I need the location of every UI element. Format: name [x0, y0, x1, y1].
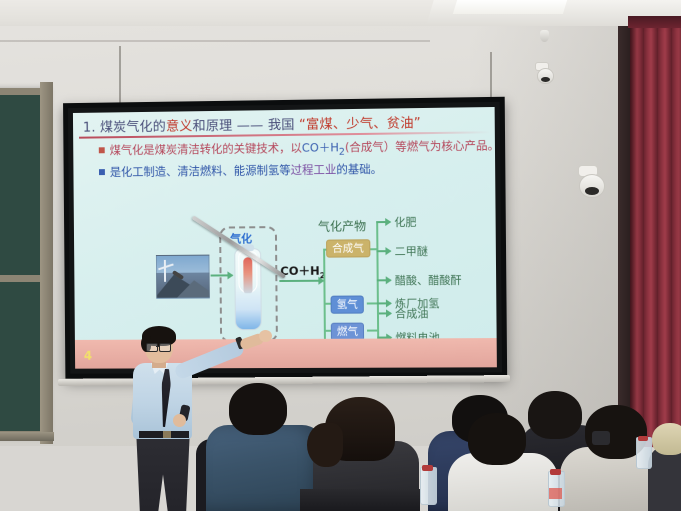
products-heading: 气化产物 — [318, 217, 366, 234]
slide-title-highlight-2: “富煤、少气、贫油” — [299, 116, 421, 133]
student-white-hoodie-head — [468, 413, 526, 465]
camera-lens — [541, 77, 550, 82]
water-bottle-center-cap — [550, 469, 561, 475]
bullet-1-formula: CO＋H — [302, 140, 339, 154]
bullet-2-emphasis: 过程工业 — [291, 162, 337, 177]
student-camo-jacket-head — [229, 383, 287, 435]
syngas-branch-riser — [376, 221, 379, 313]
arrow-to-refinery-hydrogenation — [377, 302, 391, 304]
presentation-slide: 1. 煤炭气化的意义和原理 —— 我国 “富煤、少气、贫油” 煤气化是煤炭清洁转… — [73, 107, 497, 369]
water-bottle-right — [636, 437, 652, 469]
bullet-1-part-1: 煤气化是煤炭清洁转化的关键技术，以 — [110, 141, 302, 157]
slide-bullet-1: 煤气化是煤炭清洁转化的关键技术，以CO＋H2(合成气）等燃气为核心产品。 — [99, 137, 497, 160]
projection-screen: 1. 煤炭气化的意义和原理 —— 我国 “富煤、少气、贫油” 煤气化是煤炭清洁转… — [63, 97, 507, 379]
arrow-to-fertilizer — [376, 221, 390, 223]
camera-lens — [585, 187, 599, 195]
presenter-belt-buckle — [163, 431, 171, 438]
presenter-left-hand — [173, 414, 186, 427]
lecture-hall-photo: 1. 煤炭气化的意义和原理 —— 我国 “富煤、少气、贫油” 煤气化是煤炭清洁转… — [0, 0, 681, 511]
presenter-right-hand — [259, 330, 272, 342]
product-dme: 二甲醚 — [394, 243, 427, 259]
blackboard-divider — [0, 275, 41, 282]
presenter-trousers — [134, 435, 192, 511]
category-node-syngas: 合成气 — [326, 239, 370, 258]
glasses-left-lens-icon — [146, 343, 158, 352]
wall-seam — [0, 40, 430, 42]
curtain-rail — [628, 16, 681, 28]
slide-page-number: 4 — [84, 349, 92, 363]
fuelgas-node-connector — [367, 330, 379, 332]
bullet-marker-icon — [99, 147, 105, 153]
student-beanie-head — [652, 423, 681, 455]
water-bottle-center-label — [549, 488, 562, 499]
syngas-stream-formula: CO＋H — [280, 264, 319, 278]
bullet-2-part-3: 的基础。 — [336, 162, 382, 177]
blackboard-frame-right — [40, 82, 53, 444]
glasses-right-lens-icon — [159, 343, 171, 352]
student-glasses-temple-icon — [592, 431, 610, 445]
mine-tower-icon — [164, 260, 166, 282]
reactor-flame-core — [243, 257, 252, 293]
product-acetic-acid: 醋酸、醋酸酐 — [395, 272, 462, 289]
hydrogen-branch-riser — [377, 302, 379, 338]
slide-title-mid: 和原理 —— 我国 — [192, 118, 299, 134]
water-bottle-right-cap — [638, 436, 648, 441]
ceiling-light — [453, 0, 567, 14]
slide-title-prefix: 1. 煤炭气化的 — [83, 120, 166, 136]
arrow-to-acetic — [377, 279, 391, 281]
bullet-1-part-3: (合成气）等燃气为核心产品。 — [345, 138, 497, 154]
water-bottle-left-cap — [422, 465, 433, 471]
arrow-to-dme — [376, 250, 390, 252]
arrow-to-syn-oil — [377, 312, 391, 314]
desk-edge — [300, 489, 420, 511]
category-node-hydrogen: 氢气 — [331, 295, 364, 313]
water-bottle-left — [420, 467, 437, 505]
student-dark-coat-head — [528, 391, 582, 439]
student-long-hair-strands — [307, 423, 343, 467]
slide-bullet-2: 是化工制造、清洁燃料、能源制氢等过程工业的基础。 — [99, 161, 382, 180]
slide-title-highlight-1: 意义 — [166, 119, 193, 134]
bullet-2-part-1: 是化工制造、清洁燃料、能源制氢等 — [110, 163, 291, 179]
glasses-bridge — [156, 346, 160, 347]
bullet-marker-icon — [99, 169, 105, 175]
blackboard-chalk-ledge — [0, 432, 54, 441]
product-fertilizer: 化肥 — [394, 214, 416, 230]
syngas-stream-label: CO＋H2 — [280, 263, 325, 281]
ceiling-sprinkler-icon — [540, 30, 549, 42]
product-refinery-hydrogenation: 炼厂加氢 — [395, 295, 440, 311]
